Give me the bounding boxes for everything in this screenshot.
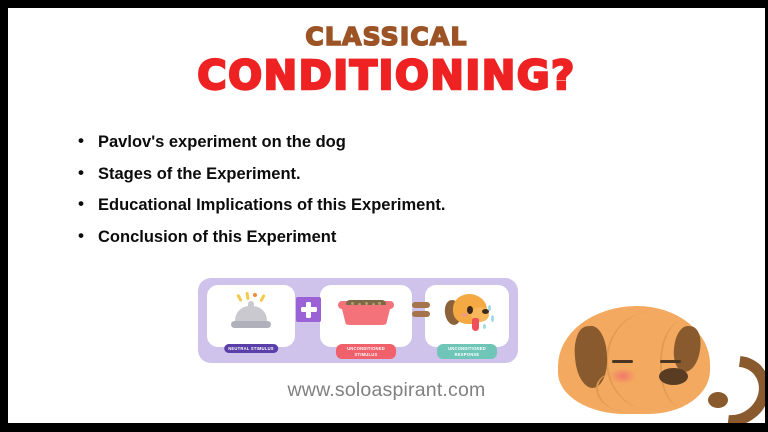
dog-back-crease [660,320,710,408]
dog-food-bowl-icon [320,288,412,330]
dog-eye-right [660,360,681,363]
page-title: CLASSICAL CONDITIONING? [8,24,765,99]
equals-operator-icon [412,302,430,318]
plus-operator-icon [296,297,321,322]
title-line-conditioning: CONDITIONING? [8,54,765,99]
title-line-classical: CLASSICAL [8,24,765,50]
list-item: Conclusion of this Experiment [94,229,445,246]
label-line-2: STIMULUS [340,352,392,358]
diagram-label-unconditioned-response: UNCONDITIONED RESPONSE [437,344,497,359]
dog-tail-tip [708,392,728,408]
diagram-panel-unconditioned-stimulus: UNCONDITIONED STIMULUS [320,285,412,347]
classical-conditioning-diagram: NEUTRAL STIMULUS [198,278,518,363]
drooling-dog-head-icon [425,288,509,330]
dog-snout [659,368,688,385]
list-item: Stages of the Experiment. [94,166,445,183]
diagram-label-unconditioned-stimulus: UNCONDITIONED STIMULUS [336,344,396,359]
slide-frame: CLASSICAL CONDITIONING? Pavlov's experim… [0,0,768,432]
agenda-bullet-list: Pavlov's experiment on the dog Stages of… [70,134,445,245]
dog-eye-left [612,360,633,363]
diagram-label-neutral-stimulus: NEUTRAL STIMULUS [224,344,278,353]
dog-blush [610,368,636,384]
sleeping-dog-illustration [548,296,753,423]
diagram-panel-unconditioned-response: UNCONDITIONED RESPONSE [425,285,509,347]
slide-canvas: CLASSICAL CONDITIONING? Pavlov's experim… [8,8,765,423]
label-line-2: RESPONSE [441,352,493,358]
service-bell-icon [207,288,295,330]
diagram-panel-neutral-stimulus: NEUTRAL STIMULUS [207,285,295,347]
list-item: Pavlov's experiment on the dog [94,134,445,151]
list-item: Educational Implications of this Experim… [94,197,445,214]
